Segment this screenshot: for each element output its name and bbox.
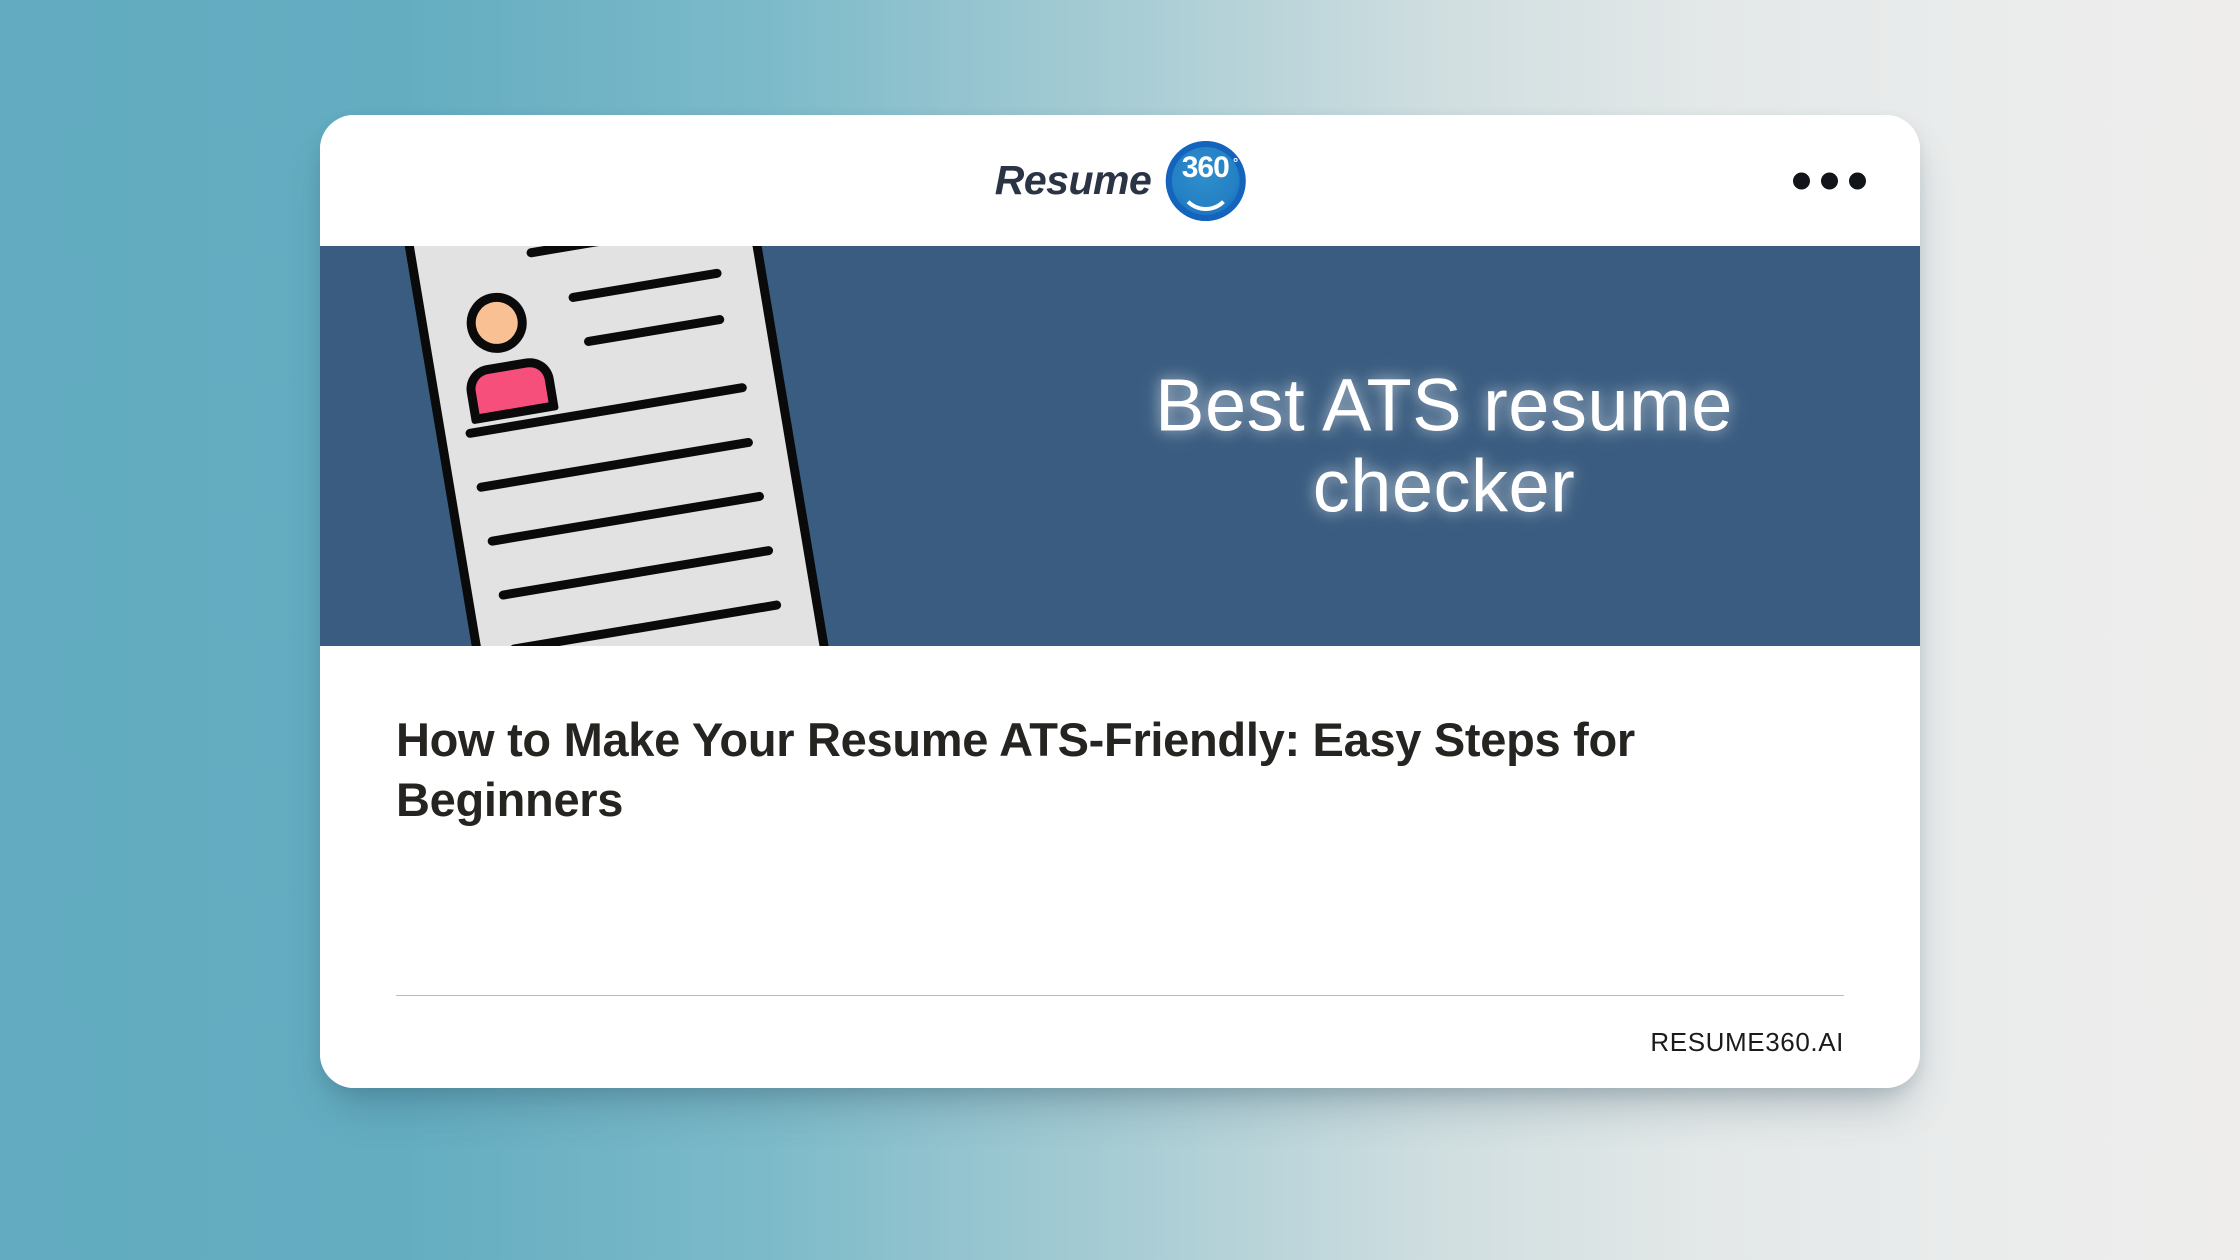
document-text-line xyxy=(509,600,782,646)
ellipsis-dot-icon xyxy=(1821,172,1838,189)
document-text-line xyxy=(498,545,774,600)
article-preview-card[interactable]: Resume 360 ° Best A xyxy=(320,115,1920,1088)
document-text-line xyxy=(568,268,722,302)
resume-document-illustration-icon xyxy=(394,246,834,646)
article-hero-banner: Best ATS resume checker xyxy=(320,246,1920,646)
brand-360-badge-icon: 360 ° xyxy=(1165,141,1245,221)
avatar-head-icon xyxy=(462,288,531,357)
more-options-button[interactable] xyxy=(1787,162,1872,199)
banner-headline: Best ATS resume checker xyxy=(1020,365,1868,528)
brand-badge-degree-symbol: ° xyxy=(1233,156,1238,169)
document-text-line xyxy=(487,491,765,546)
source-domain-label: RESUME360.AI xyxy=(1650,1027,1844,1058)
ellipsis-dot-icon xyxy=(1849,172,1866,189)
document-text-line xyxy=(526,246,656,258)
ellipsis-dot-icon xyxy=(1793,172,1810,189)
brand-wordmark: Resume xyxy=(995,160,1152,201)
document-text-line xyxy=(476,437,754,492)
card-header: Resume 360 ° xyxy=(320,115,1920,246)
footer-divider xyxy=(396,995,1844,996)
card-body: How to Make Your Resume ATS-Friendly: Ea… xyxy=(320,646,1920,1088)
avatar-body-icon xyxy=(463,355,559,425)
smile-arc-icon xyxy=(1178,177,1232,211)
document-text-line xyxy=(583,314,725,346)
brand-logo[interactable]: Resume 360 ° xyxy=(995,141,1246,221)
article-title: How to Make Your Resume ATS-Friendly: Ea… xyxy=(396,710,1816,830)
